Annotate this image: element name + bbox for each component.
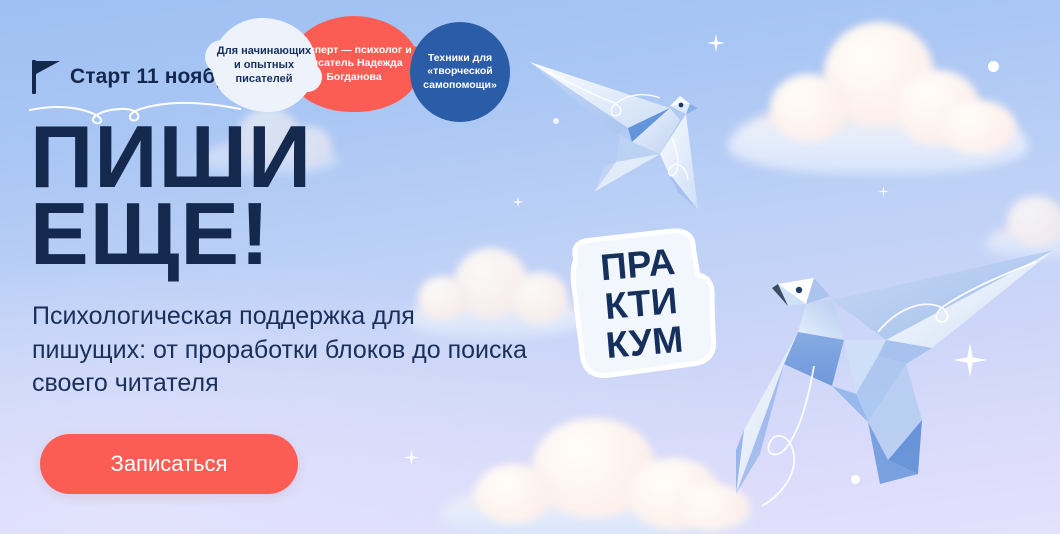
page-title: ПИШИ ЕЩЕ! [30,118,312,273]
promo-banner: ПРА КТИ КУМ Для начинающих и опытных пис… [0,0,1060,534]
cloud-lump [628,458,720,530]
subtitle: Психологическая поддержка для пишущих: о… [32,300,532,401]
origami-swallow-large [736,244,1060,534]
flag-icon [32,60,58,94]
badge-audience-text: Для начинающих и опытных писателей [212,44,316,86]
sparkle-icon [878,186,889,197]
badge-audience[interactable]: Для начинающих и опытных писателей [212,18,316,112]
sticker-line-1: ПРА [599,242,677,285]
sticker-words: ПРА КТИ КУМ [560,222,723,385]
badge-techniques-text: Техники для «творческой самопомощи» [410,52,510,92]
badge-techniques[interactable]: Техники для «творческой самопомощи» [410,22,510,122]
sticker-line-2: КТИ [603,281,679,324]
cloud-lump [1007,196,1060,246]
sticker-line-3: КУМ [604,320,684,364]
praktikum-sticker: ПРА КТИ КУМ [560,222,723,385]
headline-line-2: ЕЩЕ! [30,195,312,272]
signup-button[interactable]: Записаться [40,434,298,494]
